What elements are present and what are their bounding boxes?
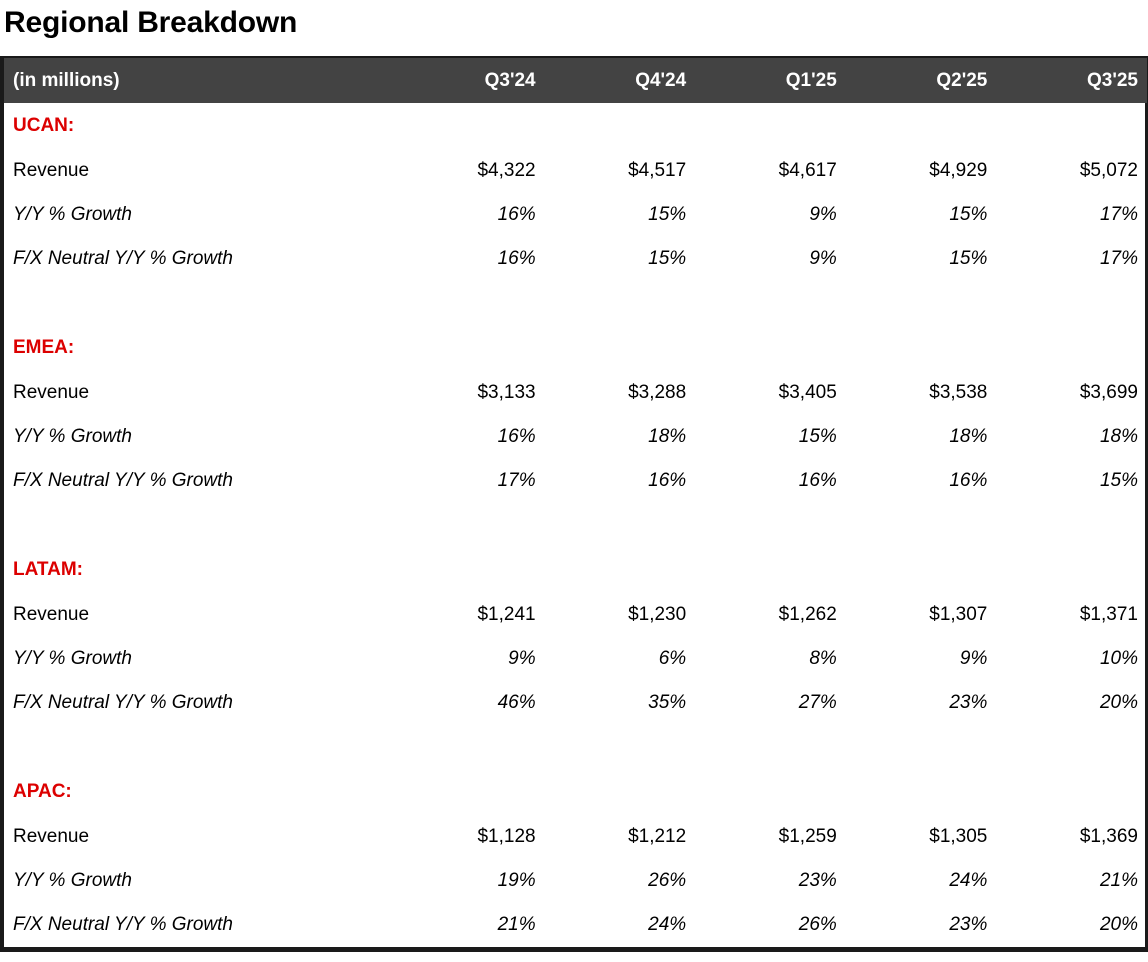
cell-apac-f-x-neutral-y-y-growth-q4-24: 24% [545,903,696,947]
cell-ucan-revenue-q4-24: $4,517 [545,149,696,193]
spacer-cell [695,725,846,769]
cell-emea-f-x-neutral-y-y-growth-q1-25: 16% [695,459,846,503]
cell-ucan-revenue-q3-24: $4,322 [394,149,545,193]
section-heading-emea: EMEA: [4,325,394,371]
cell-latam-f-x-neutral-y-y-growth-q3-25: 20% [996,681,1147,725]
column-header-q3-25: Q3'25 [996,58,1147,103]
table-row: Revenue$3,133$3,288$3,405$3,538$3,699 [4,371,1147,415]
spacer-cell [4,281,394,325]
section-heading-spacer-cell [996,325,1147,371]
cell-ucan-f-x-neutral-y-y-growth-q3-25: 17% [996,237,1147,281]
spacer-cell [846,725,997,769]
section-heading-spacer-cell [846,547,997,593]
section-heading-spacer-cell [846,325,997,371]
section-heading-spacer-cell [695,103,846,149]
cell-latam-revenue-q3-24: $1,241 [394,593,545,637]
cell-apac-y-y-growth-q4-24: 26% [545,859,696,903]
cell-apac-y-y-growth-q1-25: 23% [695,859,846,903]
cell-ucan-y-y-growth-q3-25: 17% [996,193,1147,237]
page-title: Regional Breakdown [0,0,1148,38]
row-label-apac-f-x-neutral-y-y-growth: F/X Neutral Y/Y % Growth [4,903,394,947]
cell-ucan-f-x-neutral-y-y-growth-q2-25: 15% [846,237,997,281]
table-row: Revenue$1,241$1,230$1,262$1,307$1,371 [4,593,1147,637]
table-body: UCAN:Revenue$4,322$4,517$4,617$4,929$5,0… [4,103,1147,947]
section-heading-spacer-cell [846,769,997,815]
cell-latam-y-y-growth-q1-25: 8% [695,637,846,681]
section-heading-row-latam: LATAM: [4,547,1147,593]
section-heading-spacer-cell [394,325,545,371]
spacer-cell [846,503,997,547]
section-heading-spacer-cell [996,547,1147,593]
cell-apac-revenue-q3-24: $1,128 [394,815,545,859]
spacer-cell [695,503,846,547]
cell-latam-revenue-q3-25: $1,371 [996,593,1147,637]
cell-apac-y-y-growth-q2-25: 24% [846,859,997,903]
table-row: F/X Neutral Y/Y % Growth21%24%26%23%20% [4,903,1147,947]
table-row: Y/Y % Growth9%6%8%9%10% [4,637,1147,681]
cell-emea-y-y-growth-q1-25: 15% [695,415,846,459]
cell-latam-revenue-q4-24: $1,230 [545,593,696,637]
section-heading-spacer-cell [545,769,696,815]
table-row: Y/Y % Growth16%18%15%18%18% [4,415,1147,459]
spacer-cell [695,281,846,325]
cell-latam-f-x-neutral-y-y-growth-q4-24: 35% [545,681,696,725]
cell-emea-f-x-neutral-y-y-growth-q4-24: 16% [545,459,696,503]
section-heading-spacer-cell [695,325,846,371]
cell-emea-y-y-growth-q3-25: 18% [996,415,1147,459]
column-header-q2-25: Q2'25 [846,58,997,103]
cell-emea-f-x-neutral-y-y-growth-q3-25: 15% [996,459,1147,503]
cell-apac-revenue-q2-25: $1,305 [846,815,997,859]
section-heading-spacer-cell [545,103,696,149]
cell-emea-revenue-q3-24: $3,133 [394,371,545,415]
column-header-q1-25: Q1'25 [695,58,846,103]
section-heading-spacer-cell [394,103,545,149]
section-heading-spacer-cell [996,769,1147,815]
row-label-emea-y-y-growth: Y/Y % Growth [4,415,394,459]
section-heading-spacer-cell [545,325,696,371]
cell-apac-f-x-neutral-y-y-growth-q3-25: 20% [996,903,1147,947]
section-heading-row-ucan: UCAN: [4,103,1147,149]
section-heading-spacer-cell [695,547,846,593]
table-row: Revenue$4,322$4,517$4,617$4,929$5,072 [4,149,1147,193]
column-header-unit-label: (in millions) [4,58,394,103]
row-label-latam-revenue: Revenue [4,593,394,637]
section-heading-apac: APAC: [4,769,394,815]
spacer-cell [846,281,997,325]
cell-emea-revenue-q3-25: $3,699 [996,371,1147,415]
row-label-emea-revenue: Revenue [4,371,394,415]
row-label-apac-revenue: Revenue [4,815,394,859]
cell-emea-f-x-neutral-y-y-growth-q3-24: 17% [394,459,545,503]
section-spacer-row [4,281,1147,325]
column-header-q4-24: Q4'24 [545,58,696,103]
cell-apac-revenue-q3-25: $1,369 [996,815,1147,859]
column-header-q3-24: Q3'24 [394,58,545,103]
cell-ucan-y-y-growth-q3-24: 16% [394,193,545,237]
cell-latam-y-y-growth-q3-25: 10% [996,637,1147,681]
table-header-row: (in millions) Q3'24 Q4'24 Q1'25 Q2'25 Q3… [4,58,1147,103]
cell-apac-f-x-neutral-y-y-growth-q2-25: 23% [846,903,997,947]
cell-ucan-revenue-q1-25: $4,617 [695,149,846,193]
cell-latam-f-x-neutral-y-y-growth-q1-25: 27% [695,681,846,725]
spacer-cell [996,725,1147,769]
table-row: Y/Y % Growth19%26%23%24%21% [4,859,1147,903]
regional-breakdown-table-wrapper: (in millions) Q3'24 Q4'24 Q1'25 Q2'25 Q3… [0,56,1148,952]
spacer-cell [996,503,1147,547]
spacer-cell [545,281,696,325]
section-heading-spacer-cell [695,769,846,815]
cell-emea-revenue-q4-24: $3,288 [545,371,696,415]
row-label-ucan-f-x-neutral-y-y-growth: F/X Neutral Y/Y % Growth [4,237,394,281]
row-label-ucan-revenue: Revenue [4,149,394,193]
spacer-cell [394,281,545,325]
cell-emea-y-y-growth-q3-24: 16% [394,415,545,459]
spacer-cell [996,281,1147,325]
section-spacer-row [4,725,1147,769]
cell-latam-revenue-q2-25: $1,307 [846,593,997,637]
row-label-ucan-y-y-growth: Y/Y % Growth [4,193,394,237]
cell-ucan-f-x-neutral-y-y-growth-q4-24: 15% [545,237,696,281]
spacer-cell [545,503,696,547]
section-heading-latam: LATAM: [4,547,394,593]
cell-latam-y-y-growth-q2-25: 9% [846,637,997,681]
cell-latam-y-y-growth-q3-24: 9% [394,637,545,681]
table-row: F/X Neutral Y/Y % Growth46%35%27%23%20% [4,681,1147,725]
cell-emea-y-y-growth-q4-24: 18% [545,415,696,459]
cell-apac-y-y-growth-q3-25: 21% [996,859,1147,903]
regional-breakdown-table: (in millions) Q3'24 Q4'24 Q1'25 Q2'25 Q3… [4,58,1147,947]
cell-latam-f-x-neutral-y-y-growth-q2-25: 23% [846,681,997,725]
section-heading-spacer-cell [394,769,545,815]
cell-latam-y-y-growth-q4-24: 6% [545,637,696,681]
section-heading-spacer-cell [545,547,696,593]
cell-apac-revenue-q1-25: $1,259 [695,815,846,859]
cell-ucan-revenue-q2-25: $4,929 [846,149,997,193]
table-row: Revenue$1,128$1,212$1,259$1,305$1,369 [4,815,1147,859]
spacer-cell [4,725,394,769]
cell-apac-y-y-growth-q3-24: 19% [394,859,545,903]
table-row: F/X Neutral Y/Y % Growth16%15%9%15%17% [4,237,1147,281]
cell-ucan-y-y-growth-q1-25: 9% [695,193,846,237]
section-heading-row-apac: APAC: [4,769,1147,815]
cell-ucan-revenue-q3-25: $5,072 [996,149,1147,193]
spacer-cell [394,503,545,547]
section-heading-spacer-cell [846,103,997,149]
cell-ucan-y-y-growth-q2-25: 15% [846,193,997,237]
cell-emea-revenue-q2-25: $3,538 [846,371,997,415]
row-label-latam-y-y-growth: Y/Y % Growth [4,637,394,681]
spacer-cell [4,503,394,547]
spacer-cell [394,725,545,769]
row-label-latam-f-x-neutral-y-y-growth: F/X Neutral Y/Y % Growth [4,681,394,725]
cell-apac-revenue-q4-24: $1,212 [545,815,696,859]
cell-latam-revenue-q1-25: $1,262 [695,593,846,637]
row-label-emea-f-x-neutral-y-y-growth: F/X Neutral Y/Y % Growth [4,459,394,503]
cell-emea-f-x-neutral-y-y-growth-q2-25: 16% [846,459,997,503]
regional-breakdown-page: Regional Breakdown (in millions) Q3'24 Q… [0,0,1148,962]
cell-apac-f-x-neutral-y-y-growth-q3-24: 21% [394,903,545,947]
cell-apac-f-x-neutral-y-y-growth-q1-25: 26% [695,903,846,947]
spacer-cell [545,725,696,769]
row-label-apac-y-y-growth: Y/Y % Growth [4,859,394,903]
cell-emea-y-y-growth-q2-25: 18% [846,415,997,459]
cell-ucan-f-x-neutral-y-y-growth-q3-24: 16% [394,237,545,281]
cell-ucan-y-y-growth-q4-24: 15% [545,193,696,237]
section-heading-spacer-cell [394,547,545,593]
section-heading-row-emea: EMEA: [4,325,1147,371]
section-spacer-row [4,503,1147,547]
cell-emea-revenue-q1-25: $3,405 [695,371,846,415]
table-row: F/X Neutral Y/Y % Growth17%16%16%16%15% [4,459,1147,503]
section-heading-ucan: UCAN: [4,103,394,149]
table-header: (in millions) Q3'24 Q4'24 Q1'25 Q2'25 Q3… [4,58,1147,103]
section-heading-spacer-cell [996,103,1147,149]
table-row: Y/Y % Growth16%15%9%15%17% [4,193,1147,237]
cell-latam-f-x-neutral-y-y-growth-q3-24: 46% [394,681,545,725]
cell-ucan-f-x-neutral-y-y-growth-q1-25: 9% [695,237,846,281]
